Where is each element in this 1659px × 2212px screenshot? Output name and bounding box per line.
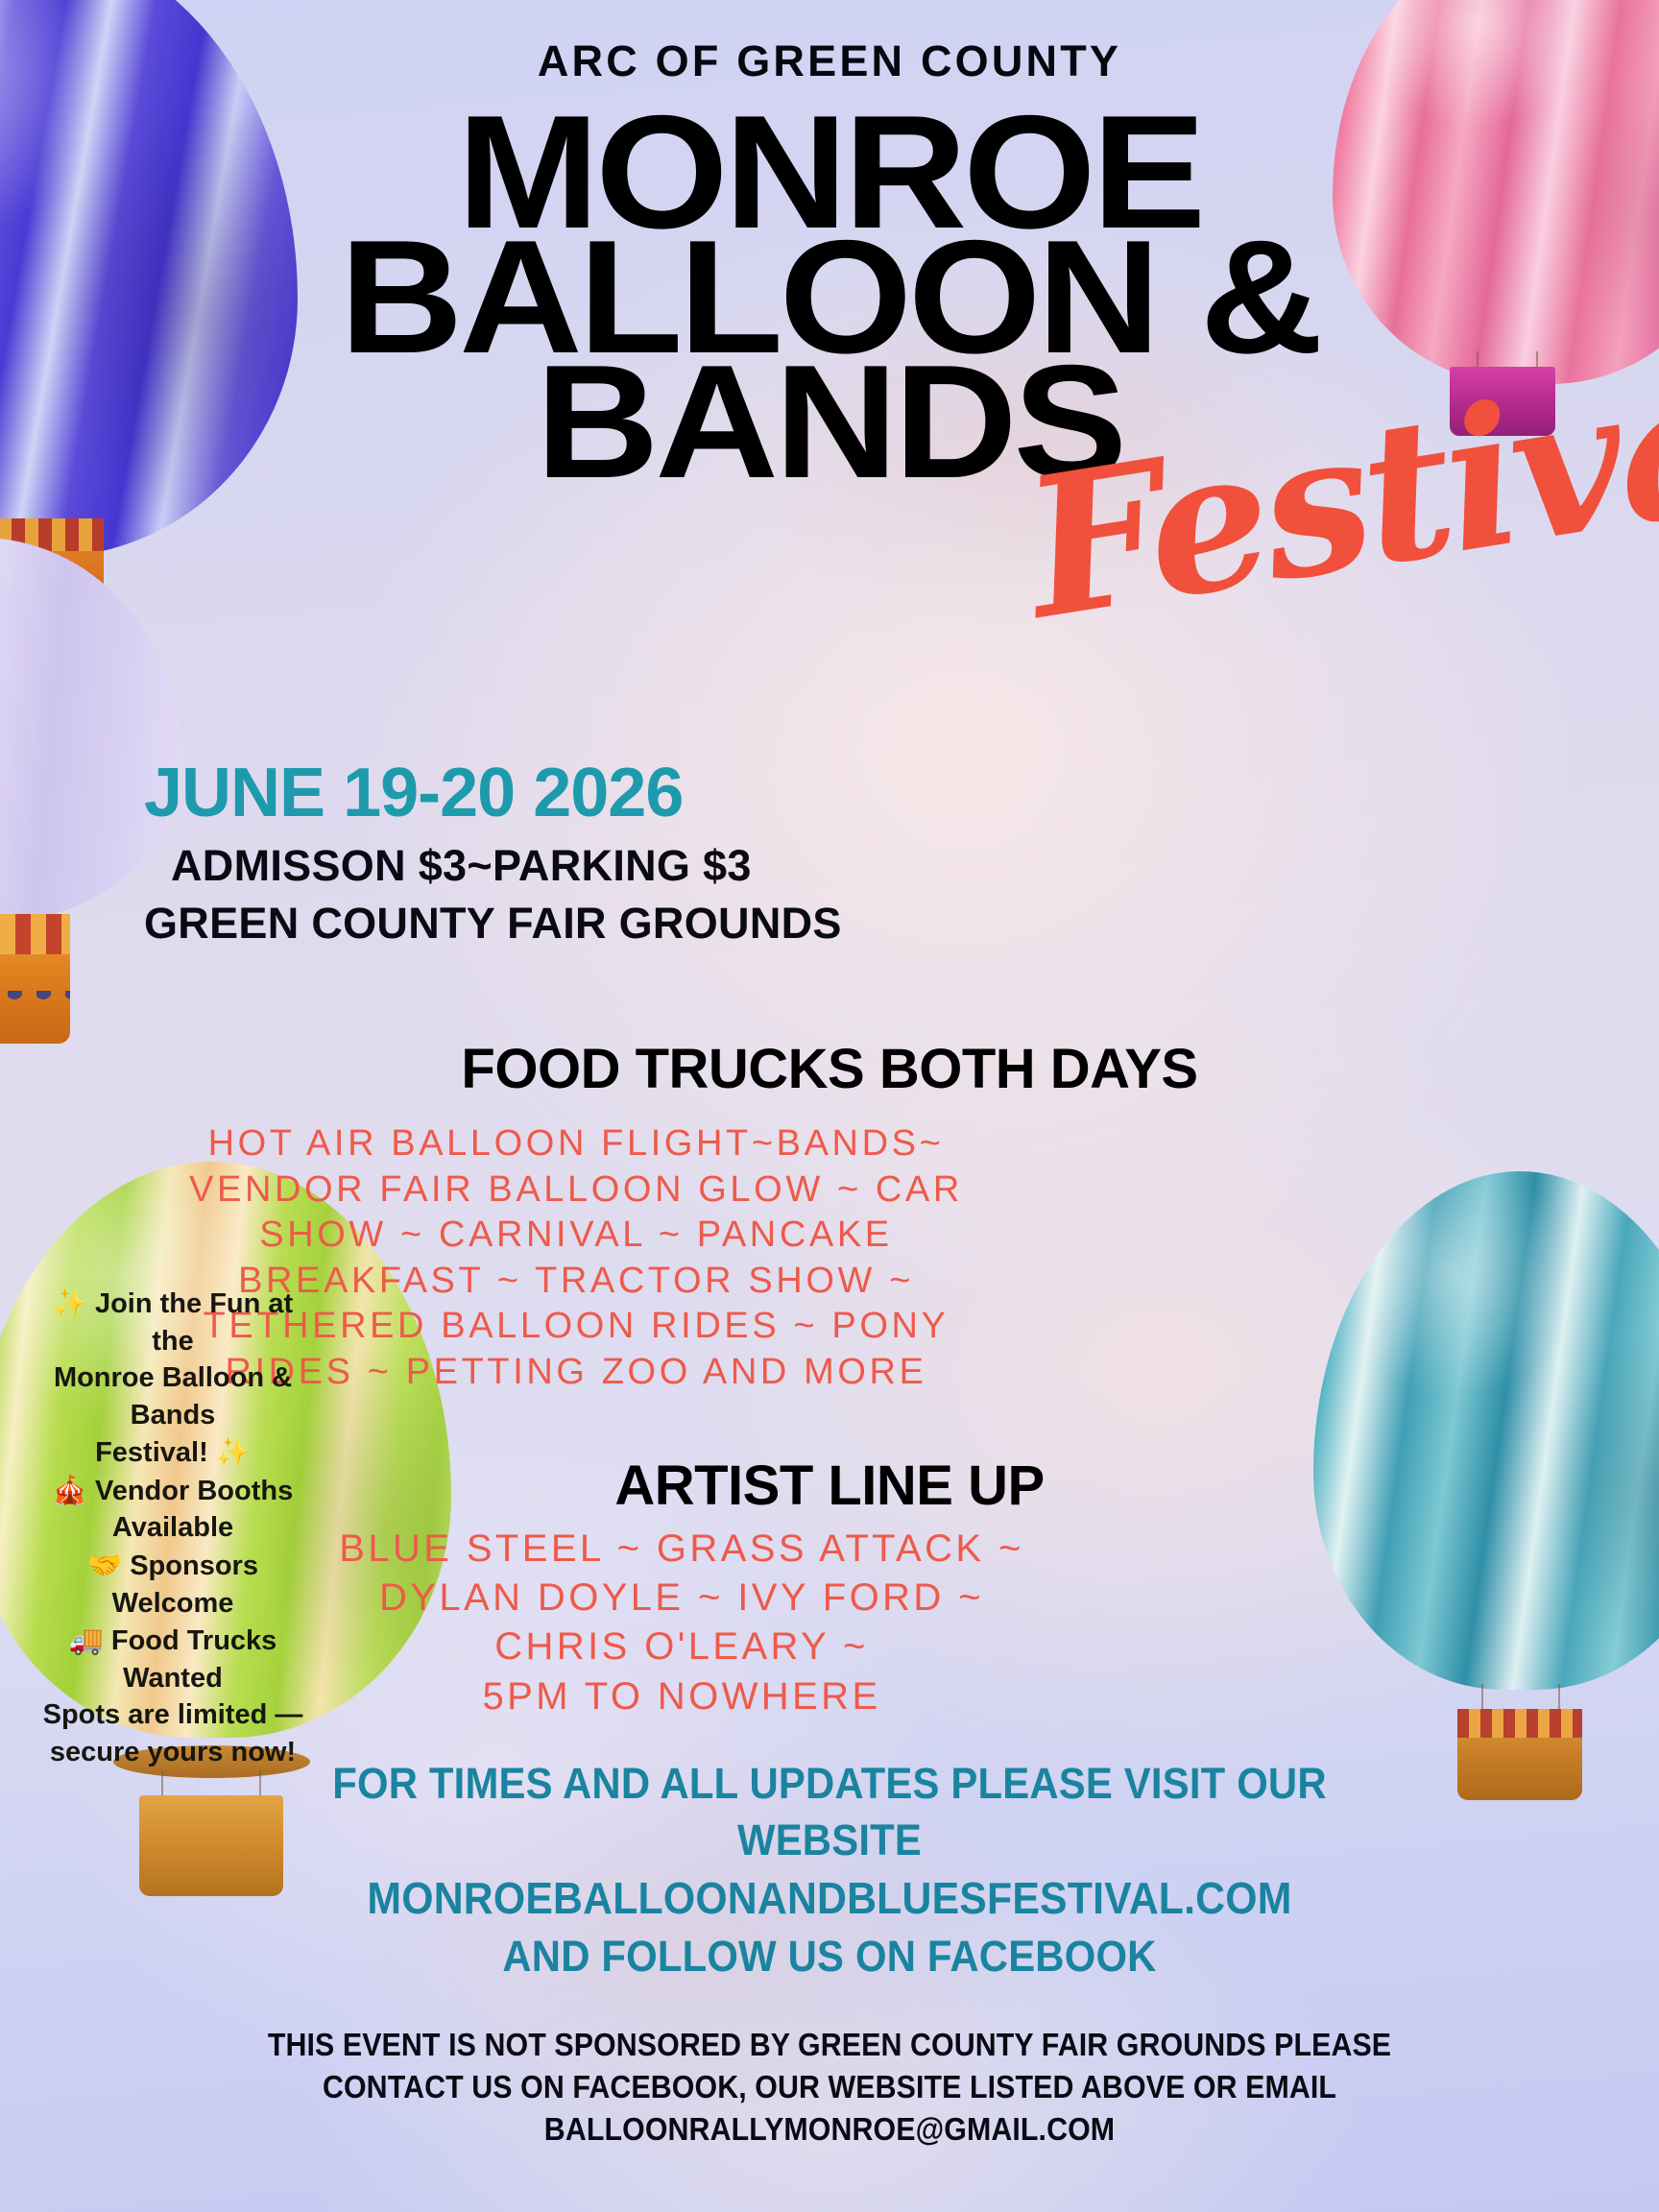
vendor-line-3: Festival! ✨ [34, 1433, 312, 1472]
vendor-line-8: Spots are limited — [34, 1696, 312, 1734]
attraction-line: HOT AIR BALLOON FLIGHT~BANDS~ [182, 1121, 970, 1167]
artist-line: BLUE STEEL ~ GRASS ATTACK ~ [288, 1525, 1075, 1574]
artist-line: DYLAN DOYLE ~ IVY FORD ~ [288, 1574, 1075, 1623]
vendor-sponsors-text: Sponsors Welcome [112, 1551, 258, 1619]
disclaimer-line-2: CONTACT US ON FACEBOOK, OUR WEBSITE LIST… [66, 2066, 1593, 2108]
vendor-booths-text: Vendor Booths [95, 1476, 293, 1506]
website-block: FOR TIMES AND ALL UPDATES PLEASE VISIT O… [58, 1755, 1600, 1984]
handshake-icon: 🤝 [87, 1549, 122, 1581]
vendor-callout: ✨ Join the Fun at the Monroe Balloon & B… [34, 1285, 312, 1770]
food-trucks-heading: FOOD TRUCKS BOTH DAYS [0, 1037, 1659, 1101]
vendor-line-1: ✨ Join the Fun at the [34, 1285, 312, 1359]
disclaimer-block: THIS EVENT IS NOT SPONSORED BY GREEN COU… [66, 2024, 1593, 2151]
vendor-join-text: Join the Fun at the [95, 1288, 293, 1357]
delivery-truck-icon: 🚚 [69, 1623, 104, 1656]
facebook-line: AND FOLLOW US ON FACEBOOK [58, 1928, 1600, 1984]
sparkle-icon: ✨ [216, 1435, 251, 1468]
vendor-line-4: 🎪 Vendor Booths [34, 1472, 312, 1510]
vendor-line-9: secure yours now! [34, 1734, 312, 1771]
organization-name: ARC OF GREEN COUNTY [0, 36, 1659, 86]
vendor-line-5: Available [34, 1509, 312, 1547]
attraction-line: VENDOR FAIR BALLOON GLOW ~ CAR [182, 1167, 970, 1214]
artist-lineup-list: BLUE STEEL ~ GRASS ATTACK ~ DYLAN DOYLE … [288, 1525, 1075, 1721]
vendor-line-7: 🚚 Food Trucks Wanted [34, 1622, 312, 1696]
vendor-line-2: Monroe Balloon & Bands [34, 1359, 312, 1433]
vendor-festival-text: Festival! [95, 1437, 208, 1468]
disclaimer-line-1: THIS EVENT IS NOT SPONSORED BY GREEN COU… [66, 2024, 1593, 2066]
vendor-line-6: 🤝 Sponsors Welcome [34, 1547, 312, 1622]
event-date: JUNE 19-20 2026 [144, 754, 683, 832]
artist-line: CHRIS O'LEARY ~ [288, 1623, 1075, 1671]
sparkle-icon: ✨ [53, 1286, 87, 1319]
poster-text-layer: ARC OF GREEN COUNTY MONROE BALLOON & BAN… [0, 0, 1659, 2212]
website-line-2: WEBSITE [58, 1812, 1600, 1868]
artist-line: 5PM TO NOWHERE [288, 1672, 1075, 1721]
vendor-trucks-text: Food Trucks Wanted [111, 1625, 276, 1694]
attraction-line: SHOW ~ CARNIVAL ~ PANCAKE [182, 1213, 970, 1259]
website-url[interactable]: MONROEBALLOONANDBLUESFESTIVAL.COM [58, 1869, 1600, 1928]
circus-tent-icon: 🎪 [53, 1474, 87, 1506]
contact-email[interactable]: BALLOONRALLYMONROE@GMAIL.COM [66, 2108, 1593, 2151]
admission-price: ADMISSON $3~PARKING $3 [171, 841, 752, 891]
venue-name: GREEN COUNTY FAIR GROUNDS [144, 899, 842, 949]
